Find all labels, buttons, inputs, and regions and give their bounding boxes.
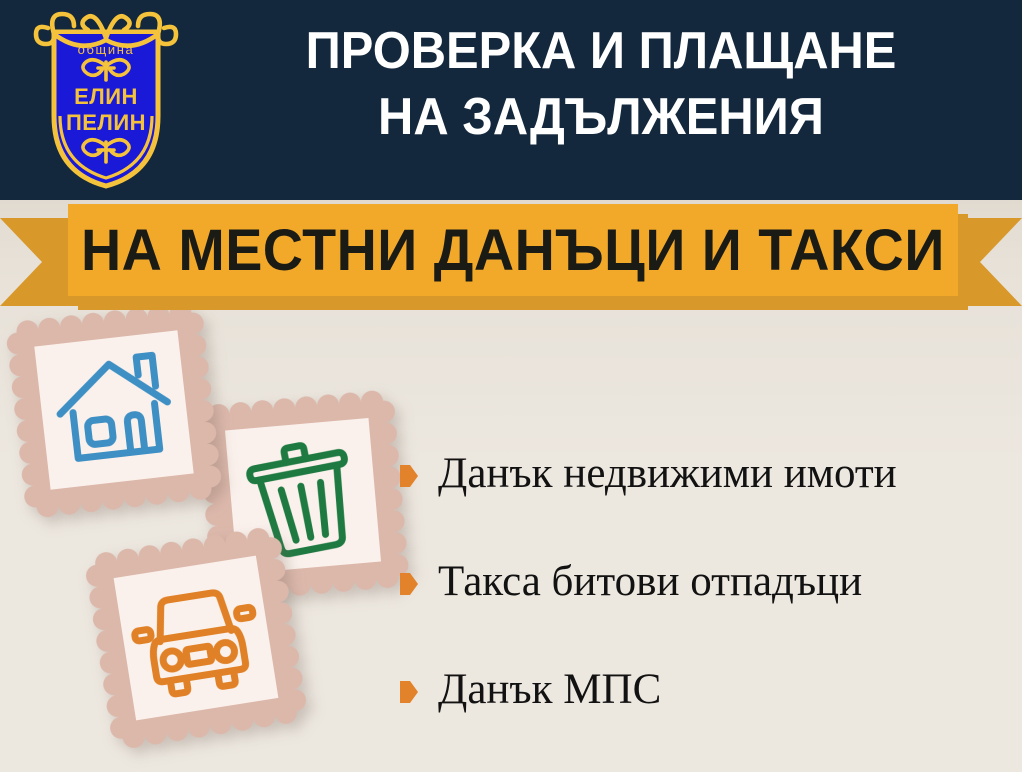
arrow-bullet-icon [400, 465, 418, 487]
ribbon-label: НА МЕСТНИ ДАНЪЦИ И ТАКСИ [81, 217, 945, 284]
ribbon-banner: НА МЕСТНИ ДАНЪЦИ И ТАКСИ [0, 196, 1022, 306]
stamp-card-car [84, 526, 308, 750]
page-title: ПРОВЕРКА И ПЛАЩАНЕ НА ЗАДЪЛЖЕНИЯ [215, 18, 988, 150]
arrow-bullet-icon [400, 573, 418, 595]
list-item-label: Такса битови отпадъци [438, 557, 862, 607]
stamp-card-house [6, 302, 223, 519]
arrow-bullet-icon [400, 681, 418, 703]
list-item[interactable]: Данък недвижими имоти [400, 420, 1010, 528]
municipality-logo: община ЕЛИН ПЕЛИН [26, 4, 186, 190]
list-item[interactable]: Данък МПС [400, 636, 1010, 744]
list-item-label: Данък МПС [438, 665, 661, 715]
stamp-paper [34, 330, 193, 489]
logo-word-obshtina: община [78, 42, 135, 57]
poster-canvas: ПРОВЕРКА И ПЛАЩАНЕ НА ЗАДЪЛЖЕНИЯ [0, 0, 1022, 772]
list-item-label: Данък недвижими имоти [438, 449, 897, 499]
logo-word-elin: ЕЛИН [74, 84, 138, 109]
logo-word-pelin: ПЕЛИН [66, 110, 146, 135]
tax-type-list: Данък недвижими имоти Такса битови отпад… [400, 420, 1010, 744]
list-item[interactable]: Такса битови отпадъци [400, 528, 1010, 636]
ribbon-band: НА МЕСТНИ ДАНЪЦИ И ТАКСИ [68, 204, 958, 296]
